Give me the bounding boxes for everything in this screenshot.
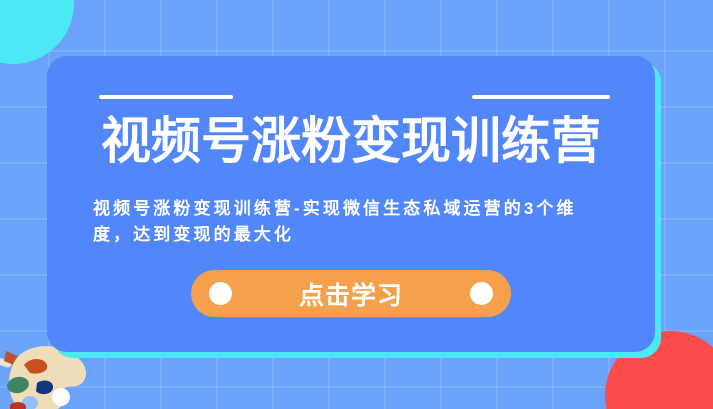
divider-line-left: [99, 95, 233, 99]
divider-lines: [47, 95, 655, 100]
cyan-circle-decoration: [0, 0, 74, 64]
dot-left-icon: [209, 282, 232, 305]
divider-line-right: [472, 95, 610, 99]
promo-poster: 视频号涨粉变现训练营 视频号涨粉变现训练营-实现微信生态私域运营的3个维度，达到…: [0, 0, 713, 409]
click-to-learn-button[interactable]: 点击学习: [191, 270, 511, 317]
main-card: 视频号涨粉变现训练营 视频号涨粉变现训练营-实现微信生态私域运营的3个维度，达到…: [47, 56, 655, 352]
paint-blob-navy: [36, 381, 53, 395]
page-title: 视频号涨粉变现训练营: [47, 116, 655, 166]
cta-button-label: 点击学习: [299, 276, 403, 312]
page-subtitle: 视频号涨粉变现训练营-实现微信生态私域运营的3个维度，达到变现的最大化: [93, 196, 613, 249]
dot-right-icon: [470, 282, 493, 305]
paint-blob-white: [52, 388, 70, 406]
